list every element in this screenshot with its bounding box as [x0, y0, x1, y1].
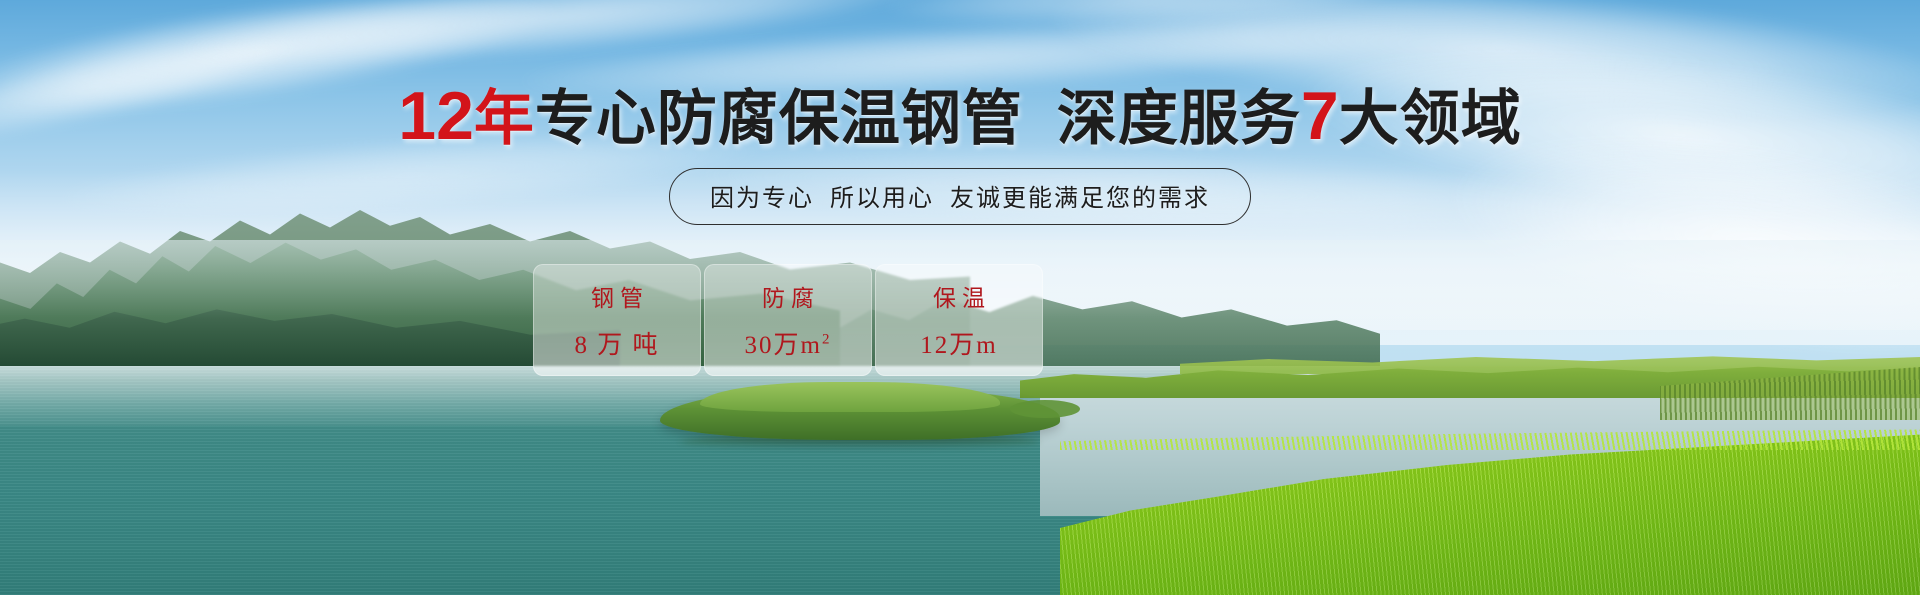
stat-card-value-text: 12万m	[920, 332, 997, 359]
banner-content: 12年专心防腐保温钢管深度服务7大领域 因为专心所以用心友诚更能满足您的需求 钢…	[0, 0, 1920, 595]
stat-card-value: 12万m	[920, 325, 997, 361]
headline-fields-number: 7	[1301, 78, 1339, 154]
banner-subtitle-pill: 因为专心所以用心友诚更能满足您的需求	[669, 168, 1251, 225]
headline-years-unit: 年	[474, 85, 535, 152]
stat-card-steel-pipe[interactable]: 钢管 8 万 吨	[533, 264, 701, 376]
subtitle-segment-two: 所以用心	[830, 185, 934, 212]
stat-card-value-exponent: 2	[822, 332, 832, 348]
stat-card-insulation[interactable]: 保温 12万m	[875, 264, 1043, 376]
stat-card-value: 30万m2	[745, 325, 832, 361]
headline-part-three: 大领域	[1339, 85, 1522, 152]
stat-card-label: 保温	[927, 279, 991, 313]
stat-card-value: 8 万 吨	[574, 325, 659, 361]
stat-card-group: 钢管 8 万 吨 防腐 30万m2 保温 12万m	[533, 264, 1043, 376]
stat-card-value-text: 8 万 吨	[574, 332, 659, 359]
headline-part-two: 深度服务	[1057, 85, 1301, 152]
stat-card-value-text: 30万m	[745, 332, 822, 359]
subtitle-segment-three: 友诚更能满足您的需求	[950, 185, 1210, 212]
headline-years-number: 12	[398, 78, 474, 154]
promo-banner: 12年专心防腐保温钢管深度服务7大领域 因为专心所以用心友诚更能满足您的需求 钢…	[0, 0, 1920, 595]
stat-card-anticorrosion[interactable]: 防腐 30万m2	[704, 264, 872, 376]
subtitle-segment-one: 因为专心	[710, 185, 814, 212]
headline-part-one: 专心防腐保温钢管	[535, 85, 1023, 152]
stat-card-label: 钢管	[585, 279, 649, 313]
stat-card-label: 防腐	[756, 279, 820, 313]
banner-headline: 12年专心防腐保温钢管深度服务7大领域	[0, 82, 1920, 150]
